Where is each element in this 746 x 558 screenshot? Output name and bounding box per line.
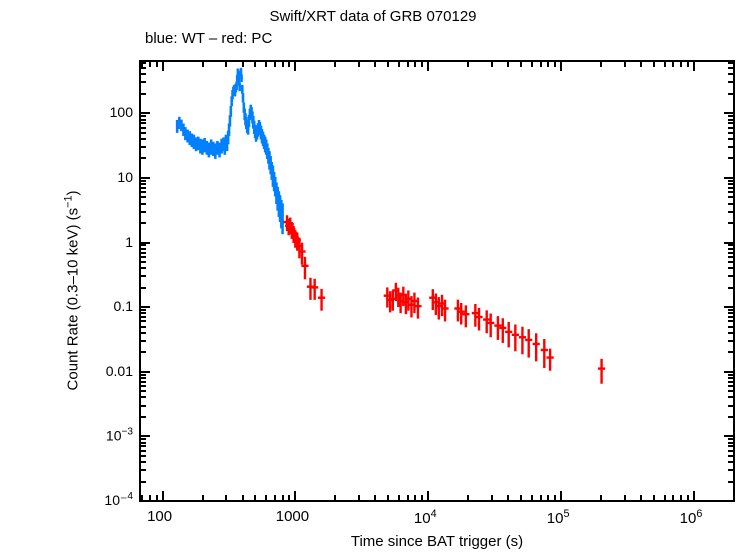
axis-tick [728, 320, 733, 322]
axis-tick [728, 191, 733, 193]
axis-tick [672, 62, 674, 67]
axis-tick [407, 495, 409, 500]
axis-tick [141, 371, 150, 373]
axis-tick [664, 62, 666, 67]
axis-tick [491, 495, 493, 500]
axis-tick [141, 309, 146, 311]
axis-tick [728, 67, 733, 69]
axis-tick [141, 222, 146, 224]
axis-tick [202, 62, 204, 67]
axis-tick [141, 242, 150, 244]
axis-tick [724, 112, 733, 114]
axis-tick [358, 495, 360, 500]
axis-tick [374, 495, 376, 500]
axis-tick [162, 491, 164, 500]
axis-tick [728, 450, 733, 452]
axis-tick [274, 495, 276, 500]
axis-tick [141, 256, 146, 258]
axis-tick [141, 316, 146, 318]
axis-tick [724, 435, 733, 437]
axis-tick [733, 62, 735, 67]
axis-tick [242, 62, 244, 67]
axis-tick [728, 316, 733, 318]
axis-tick [141, 191, 146, 193]
axis-tick [728, 442, 733, 444]
axis-tick [728, 267, 733, 269]
axis-tick [141, 374, 146, 376]
axis-tick [141, 385, 146, 387]
axis-tick [653, 495, 655, 500]
axis-tick [728, 374, 733, 376]
axis-tick [728, 445, 733, 447]
axis-tick [141, 138, 146, 140]
axis-tick [728, 122, 733, 124]
axis-tick [398, 495, 400, 500]
y-tick-label: 10⁻4 [104, 491, 133, 509]
axis-tick [687, 62, 689, 67]
axis-tick [141, 203, 146, 205]
axis-tick [728, 180, 733, 182]
axis-tick [554, 62, 556, 67]
axis-tick [265, 62, 267, 67]
axis-tick [728, 203, 733, 205]
axis-tick [254, 62, 256, 67]
axis-tick [427, 62, 429, 71]
axis-tick [141, 287, 146, 289]
axis-tick [728, 461, 733, 463]
axis-tick [141, 252, 146, 254]
axis-tick [414, 495, 416, 500]
axis-tick [640, 62, 642, 67]
axis-tick [141, 67, 146, 69]
axis-tick [141, 180, 146, 182]
axis-tick [728, 287, 733, 289]
axis-tick [728, 351, 733, 353]
axis-tick [724, 306, 733, 308]
axis-tick [724, 371, 733, 373]
axis-tick [560, 491, 562, 500]
axis-tick [288, 495, 290, 500]
axis-tick [225, 495, 227, 500]
axis-tick [728, 119, 733, 121]
chart-subtitle: blue: WT – red: PC [145, 30, 272, 47]
axis-tick [294, 62, 296, 71]
axis-tick [728, 244, 733, 246]
axis-tick [141, 177, 150, 179]
figure-canvas: Swift/XRT data of GRB 070129 blue: WT – … [0, 0, 746, 558]
axis-tick [531, 495, 533, 500]
axis-tick [156, 62, 158, 67]
axis-tick [141, 377, 146, 379]
axis-tick [624, 62, 626, 67]
y-tick-label: 0.01 [106, 363, 133, 379]
axis-tick [141, 405, 146, 407]
axis-tick [507, 62, 509, 67]
axis-tick [334, 495, 336, 500]
plot-frame [139, 60, 735, 502]
axis-tick [560, 62, 562, 71]
axis-tick [653, 62, 655, 67]
axis-tick [141, 381, 146, 383]
axis-tick [141, 461, 146, 463]
axis-tick [728, 481, 733, 483]
axis-tick [141, 326, 146, 328]
axis-tick [282, 62, 284, 67]
x-tick-label: 105 [547, 508, 570, 527]
axis-tick [728, 377, 733, 379]
axis-tick [733, 495, 735, 500]
x-tick-label: 1000 [276, 508, 309, 525]
axis-tick [274, 62, 276, 67]
axis-tick [141, 112, 150, 114]
axis-tick [728, 183, 733, 185]
axis-tick [728, 127, 733, 129]
axis-tick [141, 445, 146, 447]
axis-tick [467, 495, 469, 500]
axis-tick [728, 326, 733, 328]
axis-tick [141, 267, 146, 269]
axis-tick [540, 62, 542, 67]
axis-tick [141, 127, 146, 129]
x-tick-label: 100 [147, 508, 172, 525]
data-layer [141, 62, 733, 500]
axis-tick [728, 469, 733, 471]
axis-tick [491, 62, 493, 67]
axis-tick [141, 435, 150, 437]
axis-tick [254, 495, 256, 500]
axis-tick [141, 248, 146, 250]
axis-tick [624, 495, 626, 500]
axis-tick [374, 62, 376, 67]
axis-tick [728, 222, 733, 224]
axis-tick [334, 62, 336, 67]
axis-tick [728, 309, 733, 311]
axis-tick [141, 340, 146, 342]
axis-tick [728, 396, 733, 398]
x-tick-label: 106 [680, 508, 703, 527]
y-tick-label: 100 [110, 104, 133, 120]
axis-tick [141, 81, 146, 83]
x-axis-tick-labels: 1001000104105106 [139, 508, 735, 530]
axis-tick [141, 261, 146, 263]
y-axis-label: Count Rate (0.3–10 keV) (s−1) [63, 71, 82, 511]
axis-tick [141, 396, 146, 398]
axis-tick [728, 157, 733, 159]
axis-tick [141, 211, 146, 213]
axis-tick [531, 62, 533, 67]
axis-tick [728, 261, 733, 263]
axis-tick [728, 138, 733, 140]
axis-tick [554, 495, 556, 500]
axis-tick [728, 312, 733, 314]
axis-tick [294, 491, 296, 500]
axis-tick [520, 62, 522, 67]
axis-tick [141, 332, 146, 334]
axis-tick [265, 495, 267, 500]
axis-tick [149, 62, 151, 67]
y-tick-label: 10 [117, 169, 133, 185]
axis-tick [141, 119, 146, 121]
axis-tick [141, 469, 146, 471]
axis-tick [282, 495, 284, 500]
axis-tick [387, 495, 389, 500]
axis-tick [507, 495, 509, 500]
axis-tick [547, 62, 549, 67]
axis-tick [728, 115, 733, 117]
axis-tick [141, 73, 146, 75]
axis-tick [728, 256, 733, 258]
axis-tick [141, 438, 146, 440]
axis-tick [141, 62, 146, 64]
axis-tick [728, 81, 733, 83]
axis-tick [407, 62, 409, 67]
axis-tick [693, 491, 695, 500]
axis-tick [728, 381, 733, 383]
axis-tick [387, 62, 389, 67]
axis-tick [358, 62, 360, 67]
axis-tick [141, 312, 146, 314]
axis-tick [398, 62, 400, 67]
chart-title: Swift/XRT data of GRB 070129 [0, 8, 746, 25]
axis-tick [724, 177, 733, 179]
axis-tick [141, 122, 146, 124]
axis-tick [728, 62, 733, 64]
x-tick-label: 104 [414, 508, 437, 527]
y-tick-label: 1 [125, 234, 133, 250]
axis-tick [728, 416, 733, 418]
axis-tick [141, 115, 146, 117]
axis-tick [141, 306, 150, 308]
axis-tick [156, 495, 158, 500]
axis-tick [141, 132, 146, 134]
axis-tick [728, 187, 733, 189]
axis-tick [728, 252, 733, 254]
axis-tick [728, 211, 733, 213]
axis-tick [547, 495, 549, 500]
axis-tick [728, 196, 733, 198]
axis-tick [141, 157, 146, 159]
axis-tick [728, 390, 733, 392]
axis-tick [414, 62, 416, 67]
axis-tick [728, 146, 733, 148]
axis-tick [141, 481, 146, 483]
axis-tick [728, 405, 733, 407]
axis-tick [724, 242, 733, 244]
axis-tick [288, 62, 290, 67]
axis-tick [728, 385, 733, 387]
series-wt [177, 68, 282, 234]
axis-tick [141, 416, 146, 418]
axis-tick [141, 196, 146, 198]
axis-tick [225, 62, 227, 67]
axis-tick [141, 442, 146, 444]
axis-tick [141, 187, 146, 189]
plot-area [141, 62, 733, 500]
series-pc [283, 215, 605, 383]
axis-tick [728, 93, 733, 95]
axis-tick [162, 62, 164, 71]
axis-tick [141, 455, 146, 457]
axis-tick [693, 62, 695, 71]
y-tick-label: 10−3 [106, 427, 133, 444]
axis-tick [664, 495, 666, 500]
axis-tick [141, 275, 146, 277]
axis-tick [467, 62, 469, 67]
axis-tick [202, 495, 204, 500]
axis-tick [728, 132, 733, 134]
axis-tick [687, 495, 689, 500]
axis-tick [141, 320, 146, 322]
axis-tick [728, 73, 733, 75]
axis-tick [141, 146, 146, 148]
axis-tick [640, 495, 642, 500]
axis-tick [728, 332, 733, 334]
x-axis-label: Time since BAT trigger (s) [139, 533, 735, 550]
axis-tick [728, 438, 733, 440]
axis-tick [520, 495, 522, 500]
axis-tick [600, 62, 602, 67]
axis-tick [141, 390, 146, 392]
axis-tick [728, 275, 733, 277]
axis-tick [141, 244, 146, 246]
axis-tick [421, 495, 423, 500]
axis-tick [680, 495, 682, 500]
y-tick-label: 0.1 [114, 298, 133, 314]
axis-tick [728, 340, 733, 342]
axis-tick [242, 495, 244, 500]
axis-tick [728, 455, 733, 457]
axis-tick [141, 450, 146, 452]
axis-tick [672, 495, 674, 500]
axis-tick [141, 351, 146, 353]
axis-tick [421, 62, 423, 67]
axis-tick [141, 183, 146, 185]
axis-tick [141, 93, 146, 95]
axis-tick [600, 495, 602, 500]
axis-tick [728, 248, 733, 250]
axis-tick [540, 495, 542, 500]
axis-tick [427, 491, 429, 500]
axis-tick [141, 500, 150, 502]
axis-tick [680, 62, 682, 67]
axis-tick [724, 500, 733, 502]
